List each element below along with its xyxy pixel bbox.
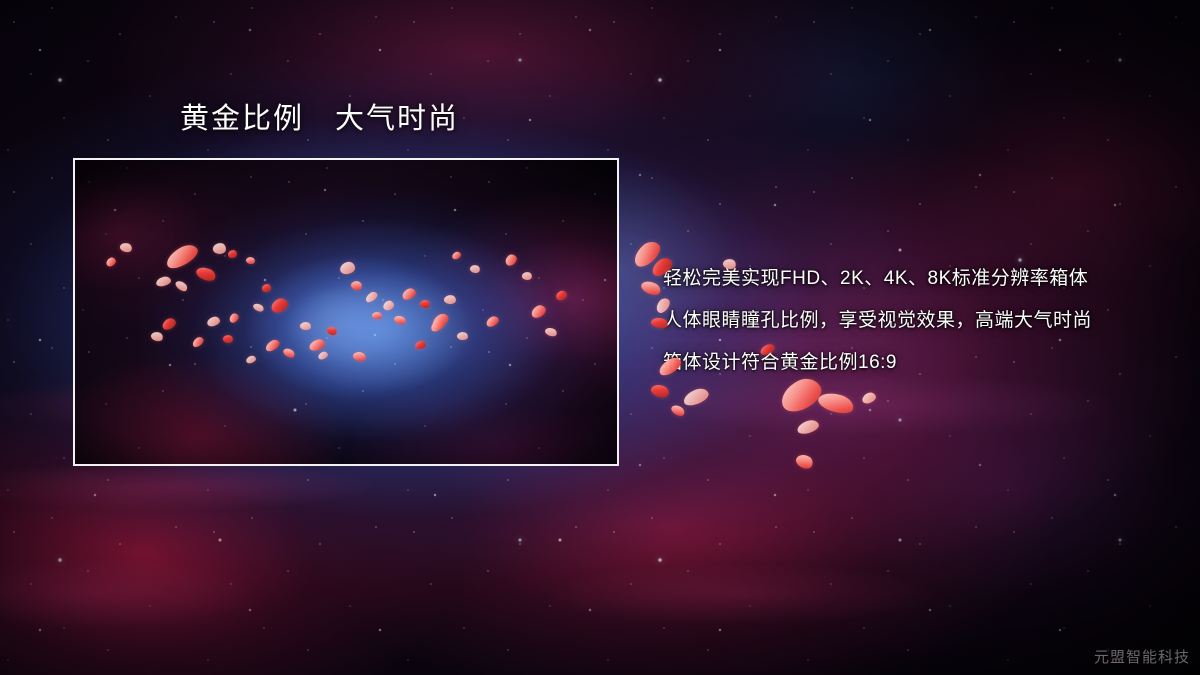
page-title: 黄金比例 大气时尚 bbox=[180, 102, 459, 136]
watermark: 元盟智能科技 bbox=[1094, 646, 1190, 667]
petal bbox=[262, 284, 271, 292]
body-line-2: 人体眼睛瞳孔比例，享受视觉效果，高端大气时尚 bbox=[663, 300, 1163, 342]
slide-canvas: 黄金比例 大气时尚 轻松完美实现FHD、2K、4K、8K标准分辨率箱体 人体眼睛… bbox=[0, 0, 1200, 675]
body-text-block: 轻松完美实现FHD、2K、4K、8K标准分辨率箱体 人体眼睛瞳孔比例，享受视觉效… bbox=[663, 258, 1163, 384]
petal bbox=[228, 250, 237, 258]
body-line-3: 箱体设计符合黄金比例16:9 bbox=[663, 342, 1163, 384]
body-line-1: 轻松完美实现FHD、2K、4K、8K标准分辨率箱体 bbox=[663, 258, 1163, 300]
